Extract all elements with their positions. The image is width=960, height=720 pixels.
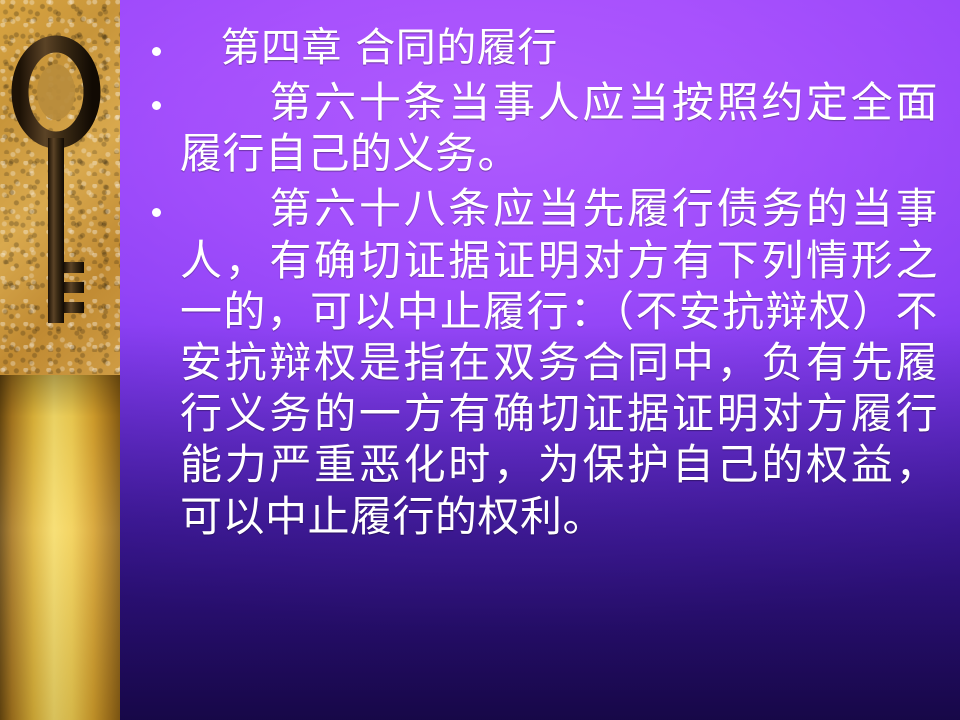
slide-content-panel: 第四章 合同的履行 第六十条当事人应当按照约定全面履行自己的义务。 第六十八条应… [120,0,960,720]
bullet-list: 第四章 合同的履行 第六十条当事人应当按照约定全面履行自己的义务。 第六十八条应… [120,0,960,542]
gold-gradient-band [0,375,120,720]
list-item: 第六十八条应当先履行债务的当事人，有确切证据证明对方有下列情形之一的，可以中止履… [138,183,938,542]
key-icon [8,30,112,360]
list-item: 第四章 合同的履行 [138,24,938,73]
bullet-text: 第六十条当事人应当按照约定全面履行自己的义务。 [180,77,938,179]
bullet-dot-icon [152,208,161,217]
bullet-text: 第六十八条应当先履行债务的当事人，有确切证据证明对方有下列情形之一的，可以中止履… [180,183,938,542]
bullet-dot-icon [152,101,161,110]
bullet-text: 第四章 合同的履行 [180,24,938,73]
bullet-dot-icon [152,47,161,56]
sidebar-decoration [0,0,120,720]
slide-canvas: 第四章 合同的履行 第六十条当事人应当按照约定全面履行自己的义务。 第六十八条应… [0,0,960,720]
list-item: 第六十条当事人应当按照约定全面履行自己的义务。 [138,77,938,179]
